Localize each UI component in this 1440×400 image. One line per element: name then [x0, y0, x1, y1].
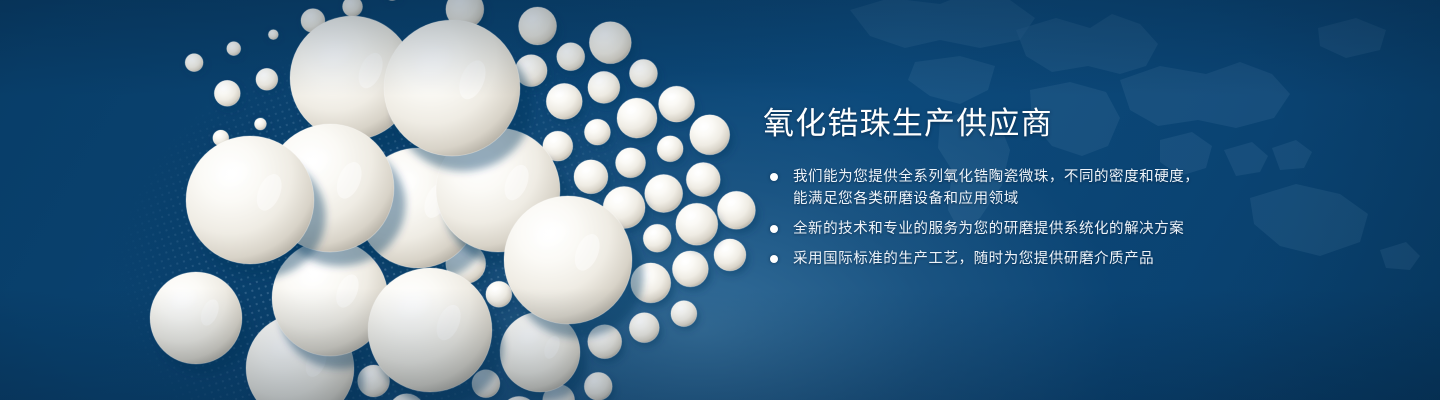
bullet-text-line: 采用国际标准的生产工艺，随时为您提供研磨介质产品 [793, 248, 1323, 270]
banner-copy-block: 氧化锆珠生产供应商 我们能为您提供全系列氧化锆陶瓷微珠，不同的密度和硬度，能满足… [763, 104, 1323, 270]
bullet-text-line: 全新的技术和专业的服务为您的研磨提供系统化的解决方案 [793, 218, 1323, 240]
bullet-text-line: 我们能为您提供全系列氧化锆陶瓷微珠，不同的密度和硬度， [793, 166, 1323, 188]
bullet-dot-icon [770, 255, 778, 263]
page-title: 氧化锆珠生产供应商 [763, 104, 1323, 144]
hero-banner: 氧化锆珠生产供应商 我们能为您提供全系列氧化锆陶瓷微珠，不同的密度和硬度，能满足… [0, 0, 1440, 400]
feature-bullet-2: 全新的技术和专业的服务为您的研磨提供系统化的解决方案 [763, 218, 1323, 240]
bullet-text-line: 能满足您各类研磨设备和应用领域 [793, 188, 1323, 210]
feature-bullet-1: 我们能为您提供全系列氧化锆陶瓷微珠，不同的密度和硬度，能满足您各类研磨设备和应用… [763, 166, 1323, 210]
feature-bullet-list: 我们能为您提供全系列氧化锆陶瓷微珠，不同的密度和硬度，能满足您各类研磨设备和应用… [763, 166, 1323, 270]
feature-bullet-3: 采用国际标准的生产工艺，随时为您提供研磨介质产品 [763, 248, 1323, 270]
bullet-dot-icon [770, 173, 778, 181]
bullet-dot-icon [770, 225, 778, 233]
